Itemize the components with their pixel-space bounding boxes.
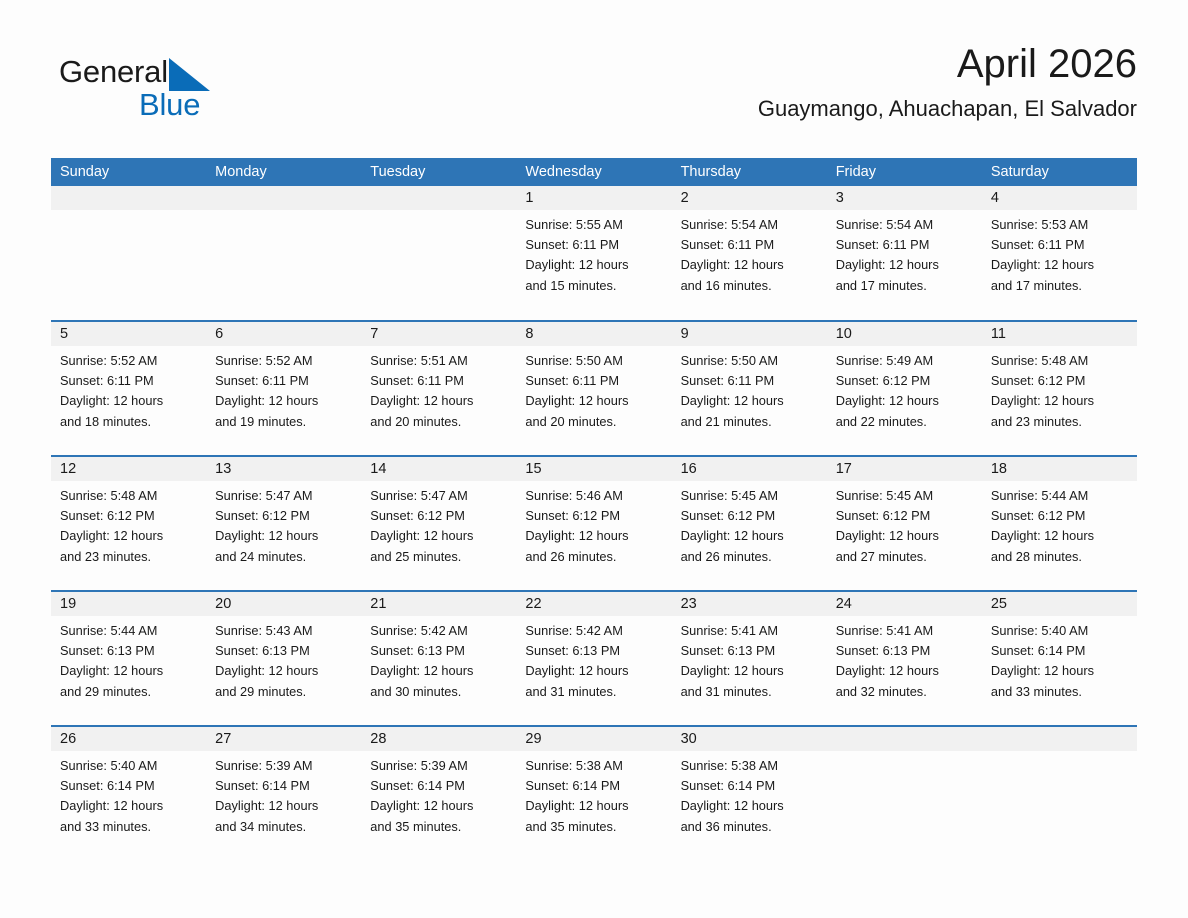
day-detail-line: and 18 minutes. [60,412,198,432]
day-detail-line: and 22 minutes. [836,412,974,432]
day-detail-line: and 30 minutes. [370,682,508,702]
day-number: 14 [361,457,516,481]
day-details: Sunrise: 5:38 AMSunset: 6:14 PMDaylight:… [516,751,671,837]
day-detail-line: and 21 minutes. [681,412,819,432]
day-details: Sunrise: 5:43 AMSunset: 6:13 PMDaylight:… [206,616,361,702]
weekday-header-sunday: Sunday [51,158,206,186]
page-header: General Blue April 2026 Guaymango, Ahuac… [51,40,1137,145]
day-detail-line: Daylight: 12 hours [370,526,508,546]
calendar-day-cell[interactable]: 24Sunrise: 5:41 AMSunset: 6:13 PMDayligh… [827,592,982,725]
calendar-day-cell[interactable]: 7Sunrise: 5:51 AMSunset: 6:11 PMDaylight… [361,322,516,455]
day-detail-line: Sunset: 6:11 PM [60,371,198,391]
day-detail-line: Daylight: 12 hours [525,526,663,546]
day-detail-line: Daylight: 12 hours [525,391,663,411]
day-detail-line: Daylight: 12 hours [370,391,508,411]
day-detail-line: Daylight: 12 hours [525,796,663,816]
day-detail-line: and 23 minutes. [60,547,198,567]
calendar-day-cell[interactable]: 20Sunrise: 5:43 AMSunset: 6:13 PMDayligh… [206,592,361,725]
day-detail-line: Sunset: 6:11 PM [525,371,663,391]
calendar-day-cell[interactable]: 9Sunrise: 5:50 AMSunset: 6:11 PMDaylight… [672,322,827,455]
day-details: Sunrise: 5:39 AMSunset: 6:14 PMDaylight:… [361,751,516,837]
day-detail-line: Sunrise: 5:38 AM [525,756,663,776]
day-details [206,210,361,215]
day-detail-line: and 29 minutes. [215,682,353,702]
day-detail-line: Sunrise: 5:47 AM [370,486,508,506]
day-number: 10 [827,322,982,346]
day-number: 7 [361,322,516,346]
day-detail-line: Daylight: 12 hours [681,526,819,546]
day-detail-line: and 35 minutes. [525,817,663,837]
day-number: 18 [982,457,1137,481]
day-detail-line: Sunrise: 5:45 AM [836,486,974,506]
day-details: Sunrise: 5:54 AMSunset: 6:11 PMDaylight:… [827,210,982,296]
day-detail-line: Sunrise: 5:43 AM [215,621,353,641]
day-detail-line: Sunrise: 5:48 AM [991,351,1129,371]
weekday-header-friday: Friday [827,158,982,186]
day-details: Sunrise: 5:38 AMSunset: 6:14 PMDaylight:… [672,751,827,837]
day-details [361,210,516,215]
day-detail-line: and 25 minutes. [370,547,508,567]
logo-text-general: General [59,55,168,89]
day-number: 16 [672,457,827,481]
calendar-day-cell-empty [827,727,982,860]
day-detail-line: Daylight: 12 hours [370,661,508,681]
day-detail-line: and 16 minutes. [681,276,819,296]
day-detail-line: Sunrise: 5:54 AM [681,215,819,235]
day-detail-line: Sunrise: 5:52 AM [215,351,353,371]
logo-text-blue: Blue [139,88,200,122]
day-detail-line: Daylight: 12 hours [836,391,974,411]
day-detail-line: and 17 minutes. [991,276,1129,296]
day-details [982,751,1137,756]
day-detail-line: Sunrise: 5:55 AM [525,215,663,235]
day-detail-line: and 29 minutes. [60,682,198,702]
day-detail-line: Daylight: 12 hours [991,526,1129,546]
day-detail-line: Daylight: 12 hours [215,796,353,816]
calendar-day-cell[interactable]: 19Sunrise: 5:44 AMSunset: 6:13 PMDayligh… [51,592,206,725]
day-detail-line: Sunrise: 5:51 AM [370,351,508,371]
day-detail-line: and 33 minutes. [60,817,198,837]
calendar-day-cell[interactable]: 3Sunrise: 5:54 AMSunset: 6:11 PMDaylight… [827,186,982,319]
day-detail-line: and 33 minutes. [991,682,1129,702]
day-number: 12 [51,457,206,481]
calendar-day-cell[interactable]: 16Sunrise: 5:45 AMSunset: 6:12 PMDayligh… [672,457,827,590]
calendar-day-cell[interactable]: 27Sunrise: 5:39 AMSunset: 6:14 PMDayligh… [206,727,361,860]
day-details: Sunrise: 5:40 AMSunset: 6:14 PMDaylight:… [982,616,1137,702]
day-number: 24 [827,592,982,616]
day-number: 23 [672,592,827,616]
calendar-day-cell[interactable]: 29Sunrise: 5:38 AMSunset: 6:14 PMDayligh… [516,727,671,860]
day-number: 3 [827,186,982,210]
day-detail-line: Sunset: 6:14 PM [370,776,508,796]
day-detail-line: Sunrise: 5:41 AM [681,621,819,641]
day-number: 29 [516,727,671,751]
calendar-day-cell[interactable]: 21Sunrise: 5:42 AMSunset: 6:13 PMDayligh… [361,592,516,725]
day-detail-line: Daylight: 12 hours [215,526,353,546]
calendar-day-cell[interactable]: 10Sunrise: 5:49 AMSunset: 6:12 PMDayligh… [827,322,982,455]
day-number [206,186,361,210]
day-detail-line: Daylight: 12 hours [60,526,198,546]
day-details: Sunrise: 5:41 AMSunset: 6:13 PMDaylight:… [672,616,827,702]
page-subtitle-location: Guaymango, Ahuachapan, El Salvador [758,95,1137,123]
day-detail-line: Sunset: 6:14 PM [215,776,353,796]
day-details: Sunrise: 5:45 AMSunset: 6:12 PMDaylight:… [672,481,827,567]
day-detail-line: Daylight: 12 hours [370,796,508,816]
day-detail-line: Daylight: 12 hours [991,255,1129,275]
day-details: Sunrise: 5:55 AMSunset: 6:11 PMDaylight:… [516,210,671,296]
day-detail-line: Daylight: 12 hours [991,661,1129,681]
day-detail-line: Sunset: 6:12 PM [991,506,1129,526]
day-detail-line: Sunset: 6:12 PM [836,506,974,526]
day-number: 2 [672,186,827,210]
calendar-day-cell[interactable]: 23Sunrise: 5:41 AMSunset: 6:13 PMDayligh… [672,592,827,725]
day-details: Sunrise: 5:42 AMSunset: 6:13 PMDaylight:… [516,616,671,702]
day-detail-line: Daylight: 12 hours [215,391,353,411]
day-details: Sunrise: 5:50 AMSunset: 6:11 PMDaylight:… [516,346,671,432]
day-details: Sunrise: 5:52 AMSunset: 6:11 PMDaylight:… [51,346,206,432]
day-detail-line: Sunset: 6:13 PM [525,641,663,661]
day-detail-line: and 34 minutes. [215,817,353,837]
day-detail-line: Sunrise: 5:38 AM [681,756,819,776]
day-detail-line: Daylight: 12 hours [836,526,974,546]
day-detail-line: Sunrise: 5:50 AM [681,351,819,371]
day-number: 4 [982,186,1137,210]
day-detail-line: Sunrise: 5:50 AM [525,351,663,371]
day-number: 25 [982,592,1137,616]
day-detail-line: Sunset: 6:12 PM [60,506,198,526]
day-detail-line: and 28 minutes. [991,547,1129,567]
calendar-weekday-header-row: SundayMondayTuesdayWednesdayThursdayFrid… [51,158,1137,186]
day-details: Sunrise: 5:47 AMSunset: 6:12 PMDaylight:… [206,481,361,567]
day-detail-line: and 17 minutes. [836,276,974,296]
calendar-day-cell[interactable]: 14Sunrise: 5:47 AMSunset: 6:12 PMDayligh… [361,457,516,590]
day-detail-line: and 24 minutes. [215,547,353,567]
day-detail-line: Sunset: 6:11 PM [215,371,353,391]
day-detail-line: Sunset: 6:12 PM [525,506,663,526]
calendar-day-cell[interactable]: 30Sunrise: 5:38 AMSunset: 6:14 PMDayligh… [672,727,827,860]
day-detail-line: Sunset: 6:14 PM [525,776,663,796]
day-detail-line: Sunrise: 5:40 AM [60,756,198,776]
day-detail-line: Sunset: 6:12 PM [681,506,819,526]
day-detail-line: Daylight: 12 hours [836,255,974,275]
weekday-header-saturday: Saturday [982,158,1137,186]
day-detail-line: Sunset: 6:14 PM [681,776,819,796]
day-detail-line: Sunrise: 5:48 AM [60,486,198,506]
day-detail-line: Sunset: 6:12 PM [836,371,974,391]
day-detail-line: Sunset: 6:11 PM [681,371,819,391]
calendar-week-row: 1Sunrise: 5:55 AMSunset: 6:11 PMDaylight… [51,186,1137,321]
day-detail-line: Sunset: 6:13 PM [681,641,819,661]
page-title: April 2026 [957,40,1137,88]
weekday-header-wednesday: Wednesday [516,158,671,186]
calendar-week-row: 19Sunrise: 5:44 AMSunset: 6:13 PMDayligh… [51,591,1137,726]
day-detail-line: Daylight: 12 hours [60,391,198,411]
day-details: Sunrise: 5:46 AMSunset: 6:12 PMDaylight:… [516,481,671,567]
day-details: Sunrise: 5:51 AMSunset: 6:11 PMDaylight:… [361,346,516,432]
day-detail-line: Sunrise: 5:46 AM [525,486,663,506]
day-details: Sunrise: 5:39 AMSunset: 6:14 PMDaylight:… [206,751,361,837]
general-blue-logo[interactable]: General Blue [59,55,259,135]
calendar-day-cell[interactable]: 15Sunrise: 5:46 AMSunset: 6:12 PMDayligh… [516,457,671,590]
day-detail-line: and 20 minutes. [370,412,508,432]
day-detail-line: and 23 minutes. [991,412,1129,432]
day-details: Sunrise: 5:48 AMSunset: 6:12 PMDaylight:… [51,481,206,567]
calendar-day-cell[interactable]: 17Sunrise: 5:45 AMSunset: 6:12 PMDayligh… [827,457,982,590]
calendar-day-cell[interactable]: 2Sunrise: 5:54 AMSunset: 6:11 PMDaylight… [672,186,827,319]
day-detail-line: Sunrise: 5:39 AM [215,756,353,776]
day-detail-line: and 27 minutes. [836,547,974,567]
day-detail-line: Sunset: 6:13 PM [836,641,974,661]
day-details [51,210,206,215]
day-number [827,727,982,751]
day-detail-line: and 26 minutes. [681,547,819,567]
day-detail-line: and 31 minutes. [525,682,663,702]
calendar-day-cell[interactable]: 25Sunrise: 5:40 AMSunset: 6:14 PMDayligh… [982,592,1137,725]
day-detail-line: and 26 minutes. [525,547,663,567]
day-detail-line: Sunset: 6:13 PM [370,641,508,661]
calendar-day-cell[interactable]: 5Sunrise: 5:52 AMSunset: 6:11 PMDaylight… [51,322,206,455]
calendar-day-cell-empty [361,186,516,319]
calendar-body: 1Sunrise: 5:55 AMSunset: 6:11 PMDaylight… [51,186,1137,861]
day-details: Sunrise: 5:45 AMSunset: 6:12 PMDaylight:… [827,481,982,567]
calendar-day-cell-empty [206,186,361,319]
day-details: Sunrise: 5:49 AMSunset: 6:12 PMDaylight:… [827,346,982,432]
day-detail-line: Sunrise: 5:40 AM [991,621,1129,641]
calendar-day-cell[interactable]: 22Sunrise: 5:42 AMSunset: 6:13 PMDayligh… [516,592,671,725]
day-detail-line: Sunrise: 5:53 AM [991,215,1129,235]
day-detail-line: Daylight: 12 hours [215,661,353,681]
day-detail-line: Daylight: 12 hours [525,661,663,681]
calendar-day-cell-empty [982,727,1137,860]
day-detail-line: Daylight: 12 hours [60,796,198,816]
day-detail-line: Daylight: 12 hours [681,661,819,681]
day-details: Sunrise: 5:40 AMSunset: 6:14 PMDaylight:… [51,751,206,837]
day-detail-line: Sunset: 6:12 PM [370,506,508,526]
day-number: 8 [516,322,671,346]
day-detail-line: Sunset: 6:13 PM [60,641,198,661]
day-number: 27 [206,727,361,751]
day-detail-line: Sunrise: 5:41 AM [836,621,974,641]
day-number: 30 [672,727,827,751]
day-number: 6 [206,322,361,346]
day-detail-line: Sunrise: 5:42 AM [370,621,508,641]
day-detail-line: Sunrise: 5:44 AM [60,621,198,641]
day-detail-line: Sunset: 6:12 PM [991,371,1129,391]
day-details: Sunrise: 5:42 AMSunset: 6:13 PMDaylight:… [361,616,516,702]
calendar-day-cell[interactable]: 1Sunrise: 5:55 AMSunset: 6:11 PMDaylight… [516,186,671,319]
day-detail-line: Sunrise: 5:42 AM [525,621,663,641]
day-detail-line: and 35 minutes. [370,817,508,837]
day-detail-line: Daylight: 12 hours [681,255,819,275]
day-number [982,727,1137,751]
day-detail-line: and 31 minutes. [681,682,819,702]
day-detail-line: Sunset: 6:13 PM [215,641,353,661]
day-detail-line: Daylight: 12 hours [836,661,974,681]
day-detail-line: Sunrise: 5:54 AM [836,215,974,235]
day-number: 26 [51,727,206,751]
day-details: Sunrise: 5:50 AMSunset: 6:11 PMDaylight:… [672,346,827,432]
weekday-header-thursday: Thursday [672,158,827,186]
day-detail-line: and 20 minutes. [525,412,663,432]
calendar-table: SundayMondayTuesdayWednesdayThursdayFrid… [51,158,1137,861]
day-detail-line: Sunset: 6:11 PM [681,235,819,255]
day-number [361,186,516,210]
calendar-day-cell[interactable]: 12Sunrise: 5:48 AMSunset: 6:12 PMDayligh… [51,457,206,590]
day-detail-line: Sunrise: 5:49 AM [836,351,974,371]
calendar-page: General Blue April 2026 Guaymango, Ahuac… [0,0,1188,918]
day-number: 20 [206,592,361,616]
calendar-day-cell[interactable]: 4Sunrise: 5:53 AMSunset: 6:11 PMDaylight… [982,186,1137,319]
day-number: 22 [516,592,671,616]
day-detail-line: Daylight: 12 hours [681,391,819,411]
calendar-day-cell[interactable]: 13Sunrise: 5:47 AMSunset: 6:12 PMDayligh… [206,457,361,590]
day-detail-line: Sunrise: 5:52 AM [60,351,198,371]
calendar-day-cell[interactable]: 6Sunrise: 5:52 AMSunset: 6:11 PMDaylight… [206,322,361,455]
day-detail-line: Sunrise: 5:47 AM [215,486,353,506]
calendar-day-cell[interactable]: 28Sunrise: 5:39 AMSunset: 6:14 PMDayligh… [361,727,516,860]
logo-top-row: General [59,55,210,91]
weekday-header-monday: Monday [206,158,361,186]
day-detail-line: and 36 minutes. [681,817,819,837]
day-detail-line: and 19 minutes. [215,412,353,432]
day-number: 19 [51,592,206,616]
day-detail-line: Sunrise: 5:44 AM [991,486,1129,506]
day-number: 11 [982,322,1137,346]
day-detail-line: Sunset: 6:14 PM [60,776,198,796]
calendar-day-cell[interactable]: 8Sunrise: 5:50 AMSunset: 6:11 PMDaylight… [516,322,671,455]
day-details: Sunrise: 5:41 AMSunset: 6:13 PMDaylight:… [827,616,982,702]
day-details: Sunrise: 5:48 AMSunset: 6:12 PMDaylight:… [982,346,1137,432]
day-number: 15 [516,457,671,481]
day-details [827,751,982,756]
day-details: Sunrise: 5:47 AMSunset: 6:12 PMDaylight:… [361,481,516,567]
day-detail-line: Sunset: 6:12 PM [215,506,353,526]
day-details: Sunrise: 5:44 AMSunset: 6:12 PMDaylight:… [982,481,1137,567]
day-detail-line: Daylight: 12 hours [991,391,1129,411]
day-detail-line: Sunrise: 5:39 AM [370,756,508,776]
day-number: 28 [361,727,516,751]
calendar-week-row: 12Sunrise: 5:48 AMSunset: 6:12 PMDayligh… [51,456,1137,591]
day-detail-line: Daylight: 12 hours [60,661,198,681]
day-detail-line: Sunset: 6:11 PM [836,235,974,255]
day-detail-line: Sunset: 6:11 PM [525,235,663,255]
day-number: 9 [672,322,827,346]
day-details: Sunrise: 5:52 AMSunset: 6:11 PMDaylight:… [206,346,361,432]
calendar-week-row: 26Sunrise: 5:40 AMSunset: 6:14 PMDayligh… [51,726,1137,861]
day-detail-line: Daylight: 12 hours [681,796,819,816]
day-number: 1 [516,186,671,210]
day-number [51,186,206,210]
calendar-day-cell[interactable]: 26Sunrise: 5:40 AMSunset: 6:14 PMDayligh… [51,727,206,860]
day-detail-line: Sunrise: 5:45 AM [681,486,819,506]
day-details: Sunrise: 5:54 AMSunset: 6:11 PMDaylight:… [672,210,827,296]
day-detail-line: Sunset: 6:11 PM [370,371,508,391]
calendar-day-cell[interactable]: 11Sunrise: 5:48 AMSunset: 6:12 PMDayligh… [982,322,1137,455]
day-details: Sunrise: 5:44 AMSunset: 6:13 PMDaylight:… [51,616,206,702]
day-detail-line: Daylight: 12 hours [525,255,663,275]
day-number: 21 [361,592,516,616]
day-number: 17 [827,457,982,481]
day-detail-line: and 15 minutes. [525,276,663,296]
day-detail-line: Sunset: 6:14 PM [991,641,1129,661]
day-detail-line: and 32 minutes. [836,682,974,702]
weekday-header-tuesday: Tuesday [361,158,516,186]
day-detail-line: Sunset: 6:11 PM [991,235,1129,255]
day-number: 13 [206,457,361,481]
calendar-day-cell[interactable]: 18Sunrise: 5:44 AMSunset: 6:12 PMDayligh… [982,457,1137,590]
calendar-week-row: 5Sunrise: 5:52 AMSunset: 6:11 PMDaylight… [51,321,1137,456]
calendar-day-cell-empty [51,186,206,319]
day-number: 5 [51,322,206,346]
day-details: Sunrise: 5:53 AMSunset: 6:11 PMDaylight:… [982,210,1137,296]
